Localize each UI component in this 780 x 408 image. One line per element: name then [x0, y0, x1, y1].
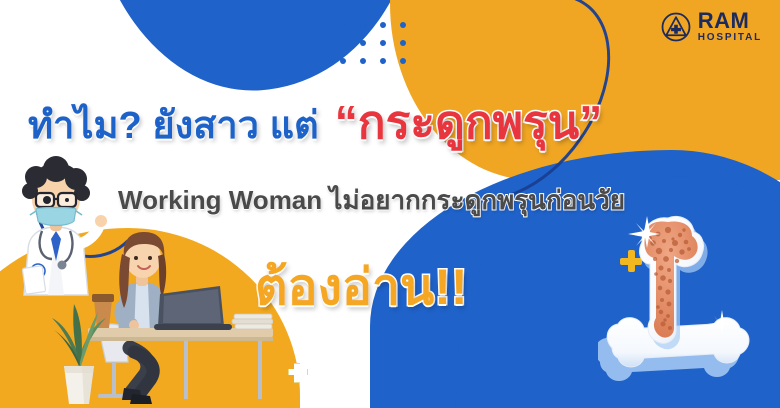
plus-outline-icon [288, 363, 306, 381]
ram-hospital-logo[interactable]: RAM HOSPITAL [661, 10, 762, 43]
logo-subtitle: HOSPITAL [698, 33, 762, 43]
promo-banner: RAM HOSPITAL ทำไม? ยังสาว แต่ “กระดูกพรุ… [0, 0, 780, 408]
headline-lead: ทำไม? ยังสาว แต่ [28, 94, 319, 155]
headline-quoted: “กระดูกพรุน” [335, 86, 602, 159]
dot-grid-icon [340, 22, 420, 76]
potted-plant-icon [38, 296, 120, 408]
headline: ทำไม? ยังสาว แต่ “กระดูกพรุน” [28, 86, 728, 159]
logo-name: RAM [698, 10, 762, 32]
cta-text: ต้องอ่าน!! [255, 248, 468, 327]
subtitle: Working Woman ไม่อยากกระดูกพรุนก่อนวัย [118, 180, 625, 221]
bone-osteoporosis-icon [598, 212, 758, 408]
ram-triangle-cross-icon [661, 12, 691, 42]
